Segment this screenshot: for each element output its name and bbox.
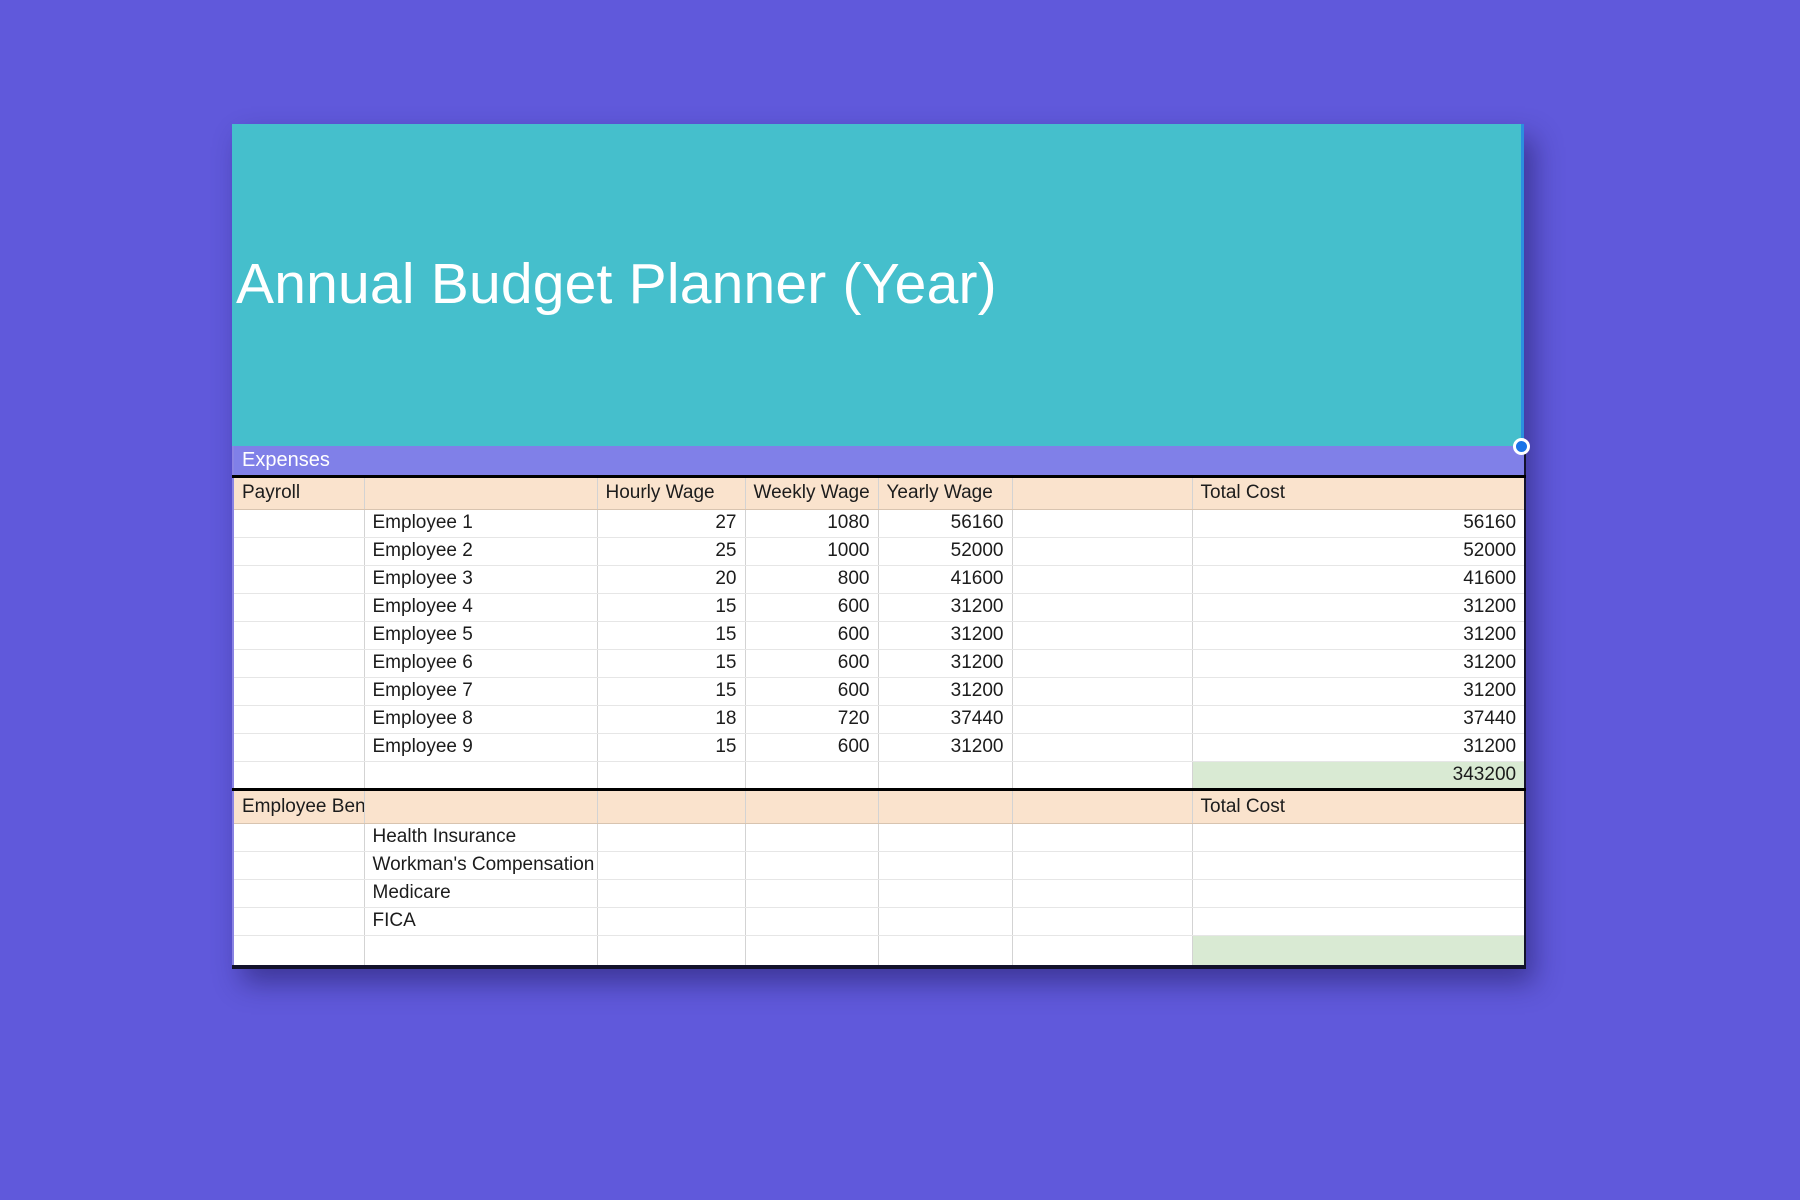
benefits-header-row[interactable]: Employee Benefits Total Cost [233, 789, 1525, 823]
section-band-expenses[interactable]: Expenses [233, 446, 1525, 476]
benefit-name[interactable]: Health Insurance [364, 823, 597, 851]
row-indent-cell[interactable] [233, 677, 364, 705]
weekly-wage[interactable]: 600 [745, 649, 878, 677]
yearly-wage[interactable]: 31200 [878, 733, 1012, 761]
benefits-header-title: Employee Benefits [233, 789, 364, 823]
title-banner[interactable]: Annual Budget Planner (Year) [232, 124, 1524, 446]
weekly-wage[interactable]: 720 [745, 705, 878, 733]
yearly-wage[interactable]: 31200 [878, 593, 1012, 621]
hourly-wage[interactable]: 15 [597, 733, 745, 761]
benefit-yearly[interactable] [878, 907, 1012, 935]
weekly-wage[interactable]: 800 [745, 565, 878, 593]
yearly-wage[interactable]: 41600 [878, 565, 1012, 593]
table-row[interactable]: Employee 4 15 600 31200 31200 [233, 593, 1525, 621]
spacer-cell[interactable] [1012, 879, 1192, 907]
yearly-wage[interactable]: 52000 [878, 537, 1012, 565]
row-indent-cell[interactable] [233, 509, 364, 537]
benefits-header-blank-2 [597, 789, 745, 823]
table-row[interactable]: Employee 9 15 600 31200 31200 [233, 733, 1525, 761]
benefit-yearly[interactable] [878, 879, 1012, 907]
section-band-label: Expenses [233, 446, 1525, 476]
hourly-wage[interactable]: 15 [597, 593, 745, 621]
employee-name[interactable]: Employee 6 [364, 649, 597, 677]
total-row-hourly[interactable] [597, 935, 745, 967]
payroll-header-blank-1 [364, 476, 597, 509]
employee-name[interactable]: Employee 1 [364, 509, 597, 537]
hourly-wage[interactable]: 20 [597, 565, 745, 593]
hourly-wage[interactable]: 25 [597, 537, 745, 565]
total-row-hourly[interactable] [597, 761, 745, 789]
yearly-wage[interactable]: 37440 [878, 705, 1012, 733]
benefit-hourly[interactable] [597, 851, 745, 879]
benefits-total-row[interactable] [233, 935, 1525, 967]
benefit-weekly[interactable] [745, 879, 878, 907]
table-row[interactable]: FICA [233, 907, 1525, 935]
row-indent-cell[interactable] [233, 649, 364, 677]
total-cost[interactable]: 37440 [1192, 705, 1525, 733]
row-indent-cell[interactable] [233, 761, 364, 789]
employee-name[interactable]: Employee 9 [364, 733, 597, 761]
benefits-header-blank-1 [364, 789, 597, 823]
row-indent-cell[interactable] [233, 621, 364, 649]
total-cost[interactable]: 31200 [1192, 733, 1525, 761]
weekly-wage[interactable]: 600 [745, 677, 878, 705]
row-indent-cell[interactable] [233, 593, 364, 621]
row-indent-cell[interactable] [233, 565, 364, 593]
benefits-header-blank-3 [745, 789, 878, 823]
benefit-yearly[interactable] [878, 851, 1012, 879]
hourly-wage[interactable]: 15 [597, 677, 745, 705]
spacer-cell[interactable] [1012, 935, 1192, 967]
benefit-total[interactable] [1192, 907, 1525, 935]
spacer-cell[interactable] [1012, 677, 1192, 705]
row-indent-cell[interactable] [233, 705, 364, 733]
table-row[interactable]: Medicare [233, 879, 1525, 907]
table-row[interactable]: Employee 8 18 720 37440 37440 [233, 705, 1525, 733]
total-row-label[interactable] [364, 935, 597, 967]
employee-name[interactable]: Employee 4 [364, 593, 597, 621]
hourly-wage[interactable]: 18 [597, 705, 745, 733]
total-cost[interactable]: 31200 [1192, 677, 1525, 705]
spacer-cell[interactable] [1012, 761, 1192, 789]
benefits-header-blank-5 [1012, 789, 1192, 823]
yearly-wage[interactable]: 31200 [878, 621, 1012, 649]
payroll-header-title: Payroll [233, 476, 364, 509]
benefit-weekly[interactable] [745, 907, 878, 935]
table-row[interactable]: Employee 2 25 1000 52000 52000 [233, 537, 1525, 565]
selection-resize-handle[interactable] [1513, 438, 1530, 455]
benefits-grand-total[interactable] [1192, 935, 1525, 967]
yearly-wage[interactable]: 31200 [878, 649, 1012, 677]
benefit-hourly[interactable] [597, 823, 745, 851]
payroll-header-total: Total Cost [1192, 476, 1525, 509]
weekly-wage[interactable]: 600 [745, 733, 878, 761]
table-row[interactable]: Employee 3 20 800 41600 41600 [233, 565, 1525, 593]
employee-name[interactable]: Employee 7 [364, 677, 597, 705]
spacer-cell[interactable] [1012, 823, 1192, 851]
hourly-wage[interactable]: 15 [597, 649, 745, 677]
payroll-header-yearly: Yearly Wage [878, 476, 1012, 509]
row-indent-cell[interactable] [233, 907, 364, 935]
spacer-cell[interactable] [1012, 593, 1192, 621]
benefits-header-total: Total Cost [1192, 789, 1525, 823]
weekly-wage[interactable]: 1080 [745, 509, 878, 537]
employee-name[interactable]: Employee 3 [364, 565, 597, 593]
benefit-hourly[interactable] [597, 907, 745, 935]
total-cost[interactable]: 56160 [1192, 509, 1525, 537]
spacer-cell[interactable] [1012, 565, 1192, 593]
spacer-cell[interactable] [1012, 733, 1192, 761]
row-indent-cell[interactable] [233, 733, 364, 761]
weekly-wage[interactable]: 600 [745, 621, 878, 649]
total-row-yearly[interactable] [878, 935, 1012, 967]
total-row-label[interactable] [364, 761, 597, 789]
spacer-cell[interactable] [1012, 907, 1192, 935]
total-cost[interactable]: 52000 [1192, 537, 1525, 565]
table-row[interactable]: Employee 7 15 600 31200 31200 [233, 677, 1525, 705]
row-indent-cell[interactable] [233, 537, 364, 565]
benefit-yearly[interactable] [878, 823, 1012, 851]
spacer-cell[interactable] [1012, 621, 1192, 649]
benefit-name[interactable]: Medicare [364, 879, 597, 907]
hourly-wage[interactable]: 27 [597, 509, 745, 537]
benefits-header-blank-4 [878, 789, 1012, 823]
payroll-total-row[interactable]: 343200 [233, 761, 1525, 789]
spacer-cell[interactable] [1012, 537, 1192, 565]
row-indent-cell[interactable] [233, 879, 364, 907]
employee-name[interactable]: Employee 5 [364, 621, 597, 649]
payroll-header-weekly: Weekly Wage [745, 476, 878, 509]
employee-name[interactable]: Employee 2 [364, 537, 597, 565]
payroll-header-hourly: Hourly Wage [597, 476, 745, 509]
total-cost[interactable]: 41600 [1192, 565, 1525, 593]
total-row-weekly[interactable] [745, 935, 878, 967]
row-indent-cell[interactable] [233, 823, 364, 851]
benefit-total[interactable] [1192, 879, 1525, 907]
yearly-wage[interactable]: 56160 [878, 509, 1012, 537]
table-row[interactable]: Workman's Compensation [233, 851, 1525, 879]
spreadsheet-object[interactable]: Annual Budget Planner (Year) Expenses Pa… [232, 124, 1524, 969]
benefit-weekly[interactable] [745, 823, 878, 851]
page-title: Annual Budget Planner (Year) [232, 255, 997, 315]
benefit-hourly[interactable] [597, 879, 745, 907]
spacer-cell[interactable] [1012, 851, 1192, 879]
spacer-cell[interactable] [1012, 649, 1192, 677]
total-cost[interactable]: 31200 [1192, 649, 1525, 677]
table-row[interactable]: Health Insurance [233, 823, 1525, 851]
spacer-cell[interactable] [1012, 705, 1192, 733]
weekly-wage[interactable]: 600 [745, 593, 878, 621]
benefit-name[interactable]: FICA [364, 907, 597, 935]
total-row-weekly[interactable] [745, 761, 878, 789]
employee-name[interactable]: Employee 8 [364, 705, 597, 733]
row-indent-cell[interactable] [233, 935, 364, 967]
benefit-total[interactable] [1192, 823, 1525, 851]
budget-table[interactable]: Expenses Payroll Hourly Wage Weekly Wage… [232, 446, 1526, 969]
total-cost[interactable]: 31200 [1192, 621, 1525, 649]
payroll-grand-total[interactable]: 343200 [1192, 761, 1525, 789]
total-cost[interactable]: 31200 [1192, 593, 1525, 621]
hourly-wage[interactable]: 15 [597, 621, 745, 649]
table-row[interactable]: Employee 5 15 600 31200 31200 [233, 621, 1525, 649]
payroll-header-row[interactable]: Payroll Hourly Wage Weekly Wage Yearly W… [233, 476, 1525, 509]
benefit-name[interactable]: Workman's Compensation [364, 851, 597, 879]
total-row-yearly[interactable] [878, 761, 1012, 789]
payroll-header-blank-2 [1012, 476, 1192, 509]
row-indent-cell[interactable] [233, 851, 364, 879]
table-row[interactable]: Employee 1 27 1080 56160 56160 [233, 509, 1525, 537]
table-row[interactable]: Employee 6 15 600 31200 31200 [233, 649, 1525, 677]
yearly-wage[interactable]: 31200 [878, 677, 1012, 705]
weekly-wage[interactable]: 1000 [745, 537, 878, 565]
benefit-total[interactable] [1192, 851, 1525, 879]
benefit-weekly[interactable] [745, 851, 878, 879]
spacer-cell[interactable] [1012, 509, 1192, 537]
